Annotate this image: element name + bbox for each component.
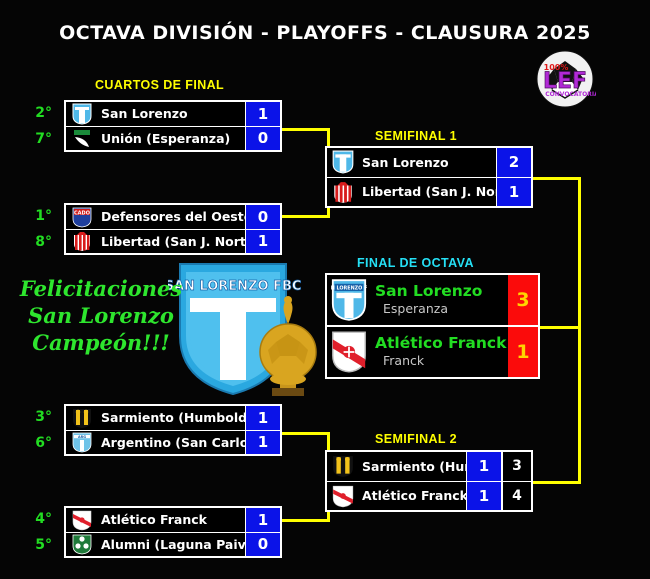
champion-message-line-3: Campeón!!!: [6, 330, 196, 357]
round-title-semifinal-2: SEMIFINAL 2: [375, 432, 457, 446]
round-title-semifinal-1: SEMIFINAL 1: [375, 129, 457, 143]
connector-line: [282, 432, 330, 435]
penalty-score: 4: [501, 482, 531, 511]
alumni-crest-icon: [69, 533, 95, 557]
champion-message-line-1: Felicitaciones: [6, 276, 196, 303]
seed-rank: 8°: [24, 234, 52, 250]
sarmiento-crest-icon: [330, 452, 356, 481]
svg-text:SAN LORENZO FBC: SAN LORENZO FBC: [331, 286, 367, 292]
round-title-final: FINAL DE OCTAVA: [357, 256, 474, 270]
sarmiento-crest-icon: [69, 406, 95, 430]
team-name: San Lorenzo: [356, 148, 496, 177]
seed-rank: 4°: [24, 511, 52, 527]
seed-rank: 5°: [24, 537, 52, 553]
team-name: Sarmiento (Humboldt): [356, 452, 466, 481]
connector-line: [578, 177, 581, 484]
score-value: 0: [245, 205, 280, 229]
defensores-crest-icon: CADO: [69, 205, 95, 229]
franck-crest-icon: [330, 482, 356, 511]
svg-text:ARG: ARG: [78, 435, 86, 439]
seed-rank: 2°: [24, 105, 52, 121]
seed-rank: 3°: [24, 409, 52, 425]
round-title-quarterfinals: CUARTOS DE FINAL: [95, 78, 224, 92]
team-name: Argentino (San Carlos): [95, 431, 245, 455]
table-row[interactable]: Atlético Franck 1 4: [327, 482, 531, 511]
match-box-qf4[interactable]: Atlético Franck 1 Alumni (Laguna Paiva) …: [64, 506, 282, 558]
connector-line: [533, 177, 581, 180]
score-value: 2: [496, 148, 531, 177]
argentino-crest-icon: ARG: [69, 431, 95, 455]
table-row[interactable]: Alumni (Laguna Paiva) 0: [66, 533, 280, 557]
team-name: Unión (Esperanza): [95, 127, 245, 151]
team-name: Libertad (San J. Norte): [356, 178, 496, 207]
connector-line: [540, 326, 581, 329]
table-row[interactable]: SAN LORENZO FBC San Lorenzo Esperanza 3: [327, 275, 538, 327]
libertad-crest-icon: [330, 178, 356, 207]
team-name: Atlético Franck: [375, 335, 508, 353]
table-row[interactable]: Sarmiento (Humboldt) 1: [66, 406, 280, 431]
table-row[interactable]: Libertad (San J. Norte) 1: [327, 178, 531, 207]
table-row[interactable]: CADO Defensores del Oeste 0: [66, 205, 280, 230]
score-value: 1: [466, 452, 501, 481]
score-value: 1: [496, 178, 531, 207]
final-team-block: Atlético Franck Franck: [371, 327, 508, 377]
final-team-block: San Lorenzo Esperanza: [371, 275, 508, 325]
table-row[interactable]: Libertad (San J. Norte) 1: [66, 230, 280, 254]
connector-line: [282, 215, 330, 218]
team-city: Franck: [375, 353, 508, 369]
team-city: Esperanza: [375, 301, 508, 317]
score-value: 0: [245, 127, 280, 151]
table-row[interactable]: ARG Argentino (San Carlos) 1: [66, 431, 280, 455]
table-row[interactable]: Sarmiento (Humboldt) 1 3: [327, 452, 531, 482]
team-name: San Lorenzo: [95, 102, 245, 126]
table-row[interactable]: San Lorenzo 1: [66, 102, 280, 127]
penalty-score: 3: [501, 452, 531, 481]
champion-message: Felicitaciones San Lorenzo Campeón!!!: [6, 276, 196, 357]
score-value: 1: [245, 230, 280, 254]
table-row[interactable]: Unión (Esperanza) 0: [66, 127, 280, 151]
score-value: 1: [245, 406, 280, 430]
lef-logo: LEF 100% CONVOCATORIA: [534, 48, 596, 110]
sanlorenzo-crest-icon: [330, 148, 356, 177]
connector-line: [282, 128, 330, 131]
table-row[interactable]: San Lorenzo 2: [327, 148, 531, 178]
svg-text:CONVOCATORIA: CONVOCATORIA: [545, 91, 596, 98]
sanlorenzo-crest-icon: SAN LORENZO FBC: [327, 275, 371, 325]
seed-rank: 6°: [24, 435, 52, 451]
connector-line: [282, 519, 330, 522]
champion-message-line-2: San Lorenzo: [6, 303, 196, 330]
match-box-qf1[interactable]: San Lorenzo 1 Unión (Esperanza) 0: [64, 100, 282, 152]
libertad-crest-icon: [69, 230, 95, 254]
score-value: 3: [508, 275, 538, 325]
seed-rank: 1°: [24, 208, 52, 224]
score-value: 1: [466, 482, 501, 511]
match-box-sf1[interactable]: San Lorenzo 2 Libertad (San J. Norte) 1: [325, 146, 533, 208]
match-box-final[interactable]: SAN LORENZO FBC San Lorenzo Esperanza 3 …: [325, 273, 540, 379]
score-value: 1: [245, 508, 280, 532]
match-box-qf3[interactable]: Sarmiento (Humboldt) 1 ARG Argentino (Sa…: [64, 404, 282, 456]
sanlorenzo-crest-icon: [69, 102, 95, 126]
table-row[interactable]: Atlético Franck 1: [66, 508, 280, 533]
team-name: Defensores del Oeste: [95, 205, 245, 229]
team-name: San Lorenzo: [375, 283, 508, 301]
seed-rank: 7°: [24, 131, 52, 147]
franck-crest-icon: [69, 508, 95, 532]
team-name: Sarmiento (Humboldt): [95, 406, 245, 430]
svg-text:CADO: CADO: [74, 210, 90, 216]
team-name: Atlético Franck: [95, 508, 245, 532]
match-box-sf2[interactable]: Sarmiento (Humboldt) 1 3 Atlético Franck…: [325, 450, 533, 512]
match-box-qf2[interactable]: CADO Defensores del Oeste 0 Libertad (Sa…: [64, 203, 282, 255]
table-row[interactable]: Atlético Franck Franck 1: [327, 327, 538, 377]
score-value: 1: [245, 431, 280, 455]
svg-text:100%: 100%: [544, 63, 569, 72]
union-crest-icon: [69, 127, 95, 151]
team-name: Alumni (Laguna Paiva): [95, 533, 245, 557]
page-title: OCTAVA DIVISIÓN - PLAYOFFS - CLAUSURA 20…: [0, 22, 650, 44]
connector-line: [533, 481, 581, 484]
score-value: 1: [245, 102, 280, 126]
score-value: 0: [245, 533, 280, 557]
team-name: Libertad (San J. Norte): [95, 230, 245, 254]
franck-crest-icon: [327, 327, 371, 377]
team-name: Atlético Franck: [356, 482, 466, 511]
score-value: 1: [508, 327, 538, 377]
bracket-canvas: OCTAVA DIVISIÓN - PLAYOFFS - CLAUSURA 20…: [0, 0, 650, 579]
